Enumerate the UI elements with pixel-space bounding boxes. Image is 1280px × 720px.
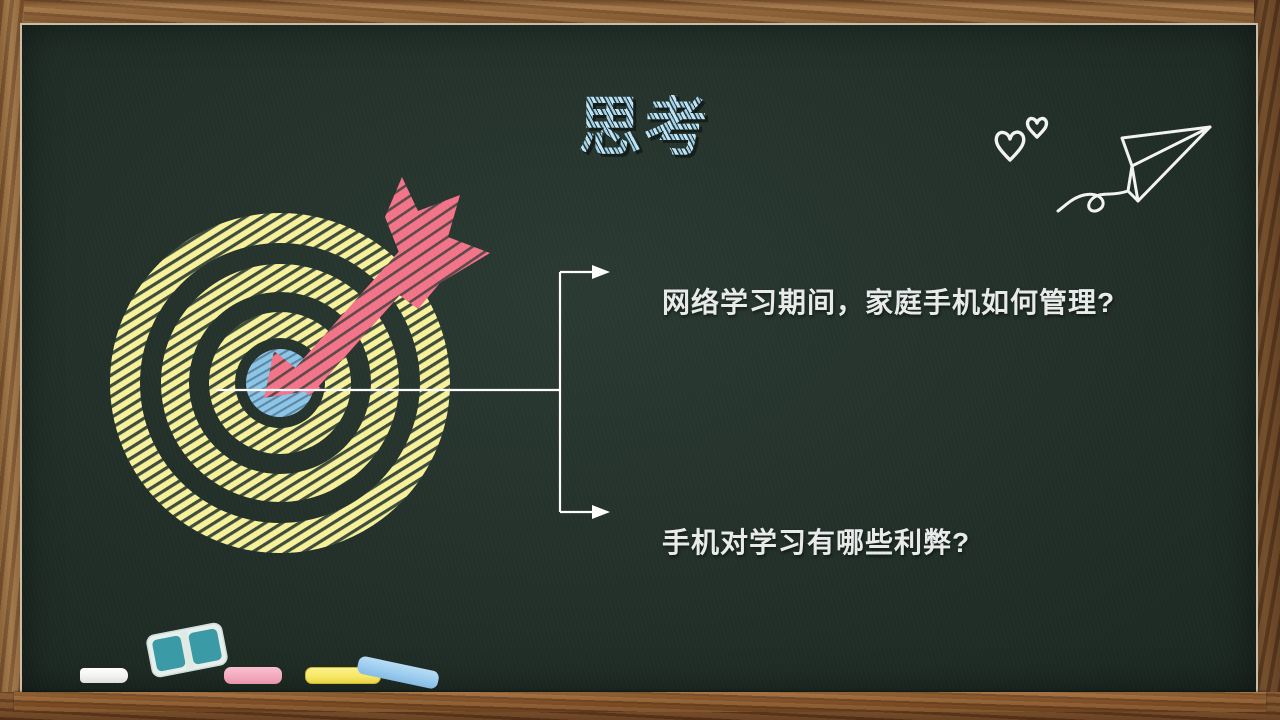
slide-root: 思考 思考: [0, 0, 1280, 720]
frame-right-rail: [1254, 0, 1280, 720]
question-text-1: 网络学习期间，家庭手机如何管理?: [662, 281, 1115, 321]
arrow-head-bottom: [592, 505, 610, 519]
chalk-ledge: [14, 692, 1266, 712]
page-title: 思考: [578, 95, 710, 159]
paper-plane-doodle-icon: [1040, 95, 1230, 225]
dartboard-target-icon: [88, 133, 508, 593]
question-text-2: 手机对学习有哪些利弊?: [662, 521, 970, 561]
blackboard-surface: 思考 思考: [22, 25, 1256, 693]
arrow-head-top: [592, 265, 610, 279]
frame-top-rail: [0, 0, 1280, 27]
chalk-pink: [224, 667, 282, 684]
chalk-white: [80, 668, 128, 683]
frame-left-rail: [0, 0, 24, 720]
